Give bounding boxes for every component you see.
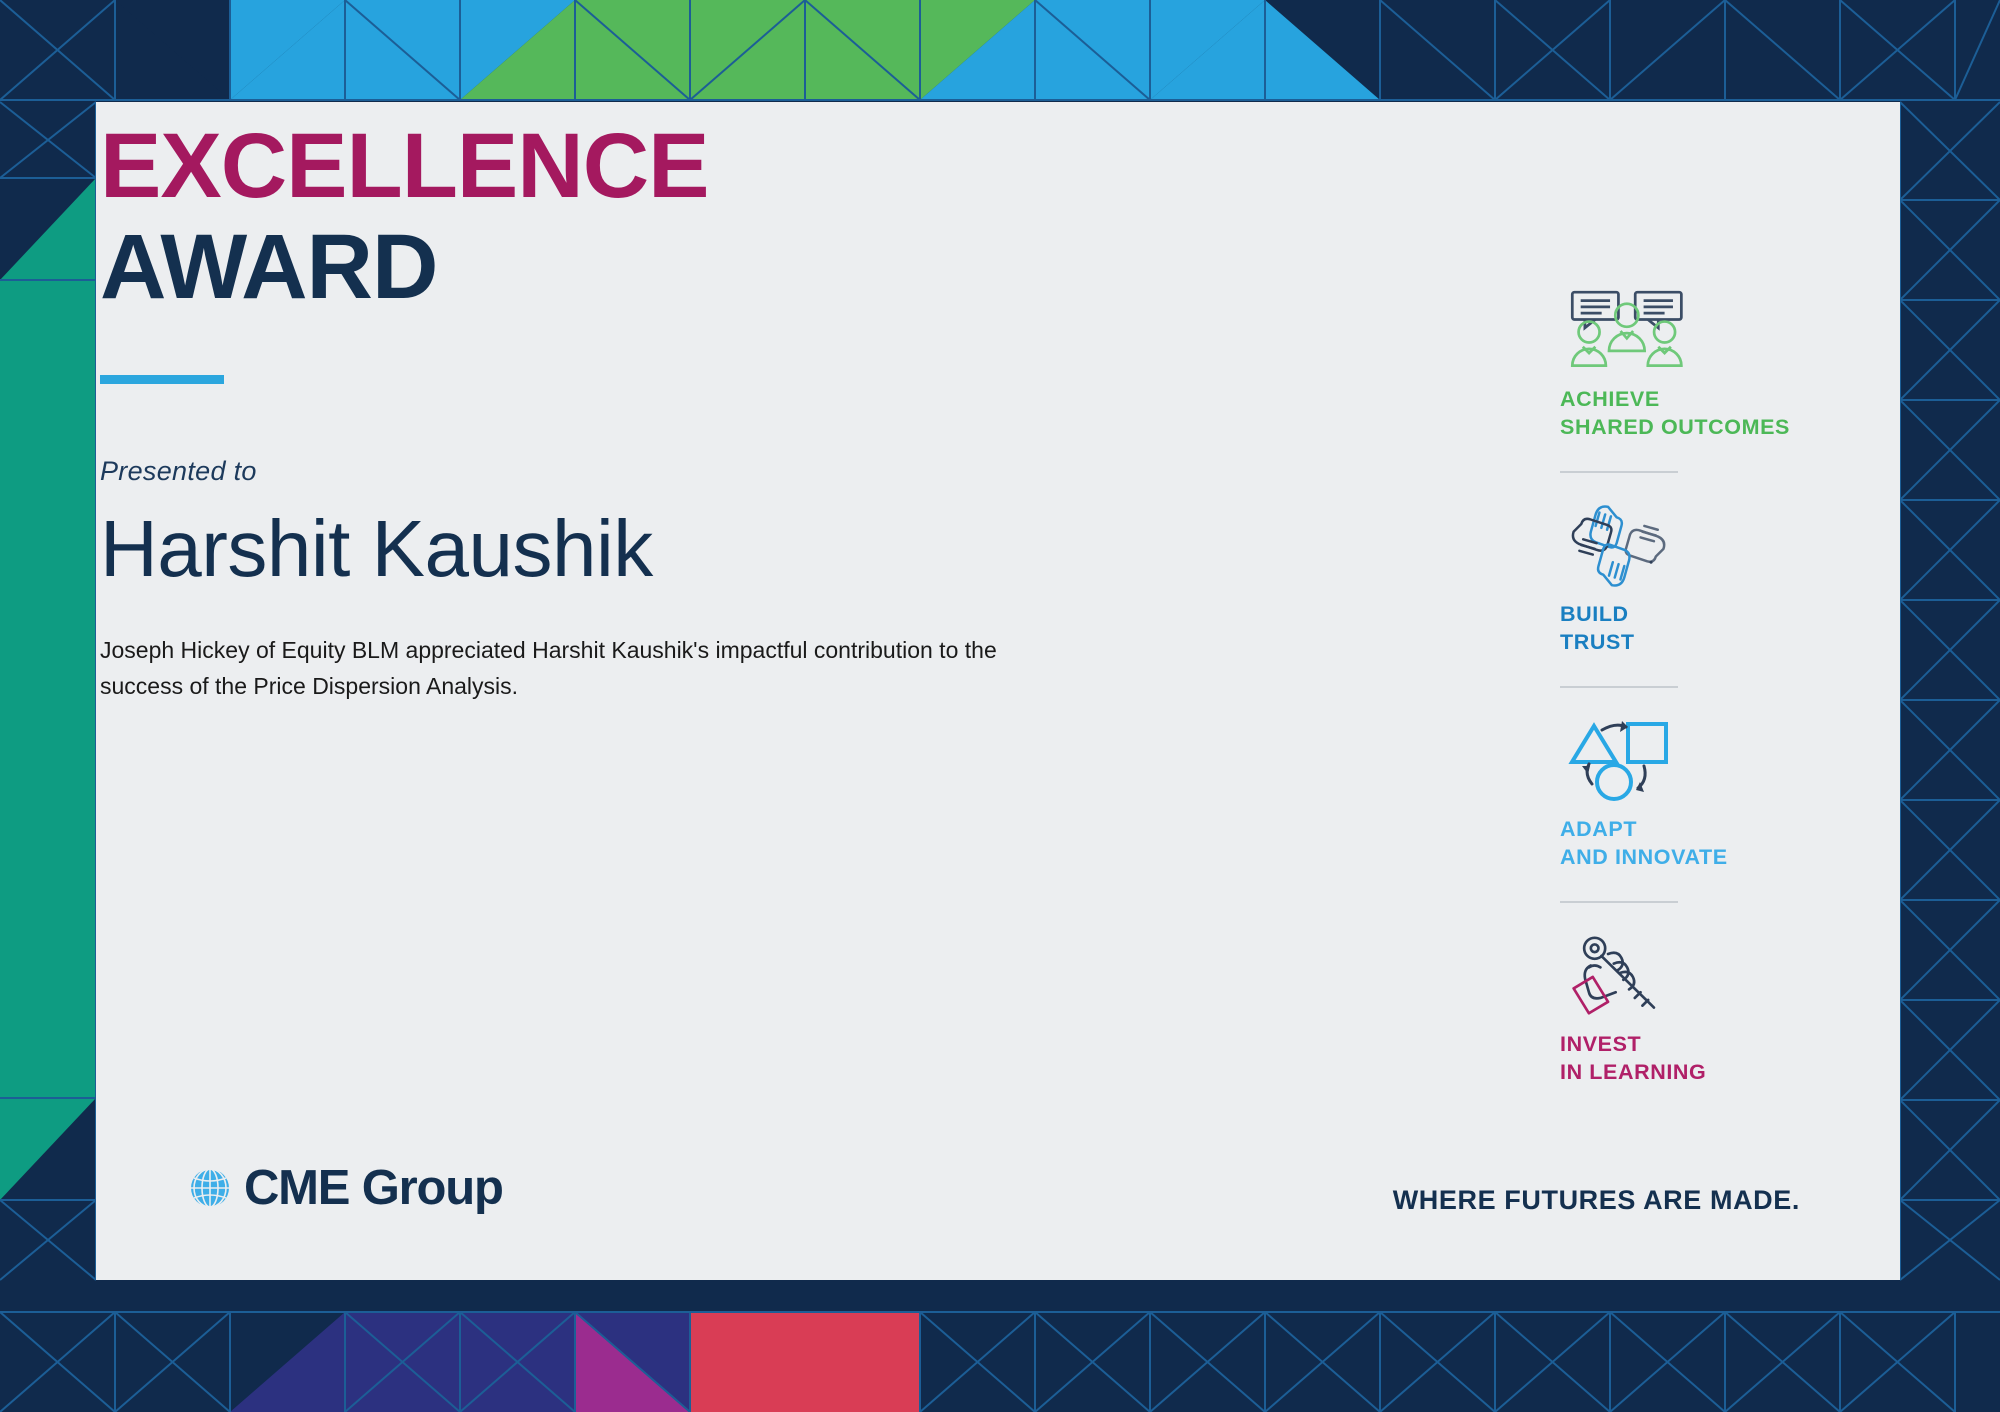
- brand-tagline: WHERE FUTURES ARE MADE.: [1393, 1185, 1800, 1216]
- value-item-invest-in-learning: INVEST IN LEARNING: [1560, 933, 1850, 1086]
- value-item-build-trust: BUILD TRUST: [1560, 503, 1850, 656]
- accent-rule: [100, 375, 224, 384]
- award-title-line-1: EXCELLENCE: [100, 120, 1100, 212]
- value-label-build-trust: BUILD TRUST: [1560, 601, 1850, 656]
- certificate-content: EXCELLENCE AWARD Presented to Harshit Ka…: [100, 120, 1100, 705]
- shapes-cycle-icon: [1566, 718, 1676, 804]
- presented-to-label: Presented to: [100, 456, 1100, 487]
- cme-group-logo: CME Group: [188, 1160, 503, 1216]
- citation-text: Joseph Hickey of Equity BLM appreciated …: [100, 633, 1040, 704]
- value-divider-2: [1560, 686, 1678, 688]
- four-hands-icon: [1566, 503, 1671, 589]
- value-label-invest-in-learning: INVEST IN LEARNING: [1560, 1031, 1850, 1086]
- value-item-achieve-shared-outcomes: ACHIEVE SHARED OUTCOMES: [1560, 288, 1850, 441]
- globe-icon: [188, 1166, 232, 1210]
- award-title-line-2: AWARD: [100, 218, 1100, 317]
- cme-group-logo-text: CME Group: [244, 1160, 503, 1216]
- value-divider-1: [1560, 471, 1678, 473]
- certificate-page: EXCELLENCE AWARD Presented to Harshit Ka…: [0, 0, 2000, 1412]
- value-label-achieve-shared-outcomes: ACHIEVE SHARED OUTCOMES: [1560, 386, 1850, 441]
- core-values-list: ACHIEVE SHARED OUTCOMES: [1560, 288, 1850, 1086]
- value-item-adapt-and-innovate: ADAPT AND INNOVATE: [1560, 718, 1850, 871]
- value-label-adapt-and-innovate: ADAPT AND INNOVATE: [1560, 816, 1850, 871]
- recipient-name: Harshit Kaushik: [100, 509, 1100, 589]
- hand-key-icon: [1566, 933, 1671, 1019]
- value-divider-3: [1560, 901, 1678, 903]
- people-speech-bubbles-icon: [1566, 288, 1692, 374]
